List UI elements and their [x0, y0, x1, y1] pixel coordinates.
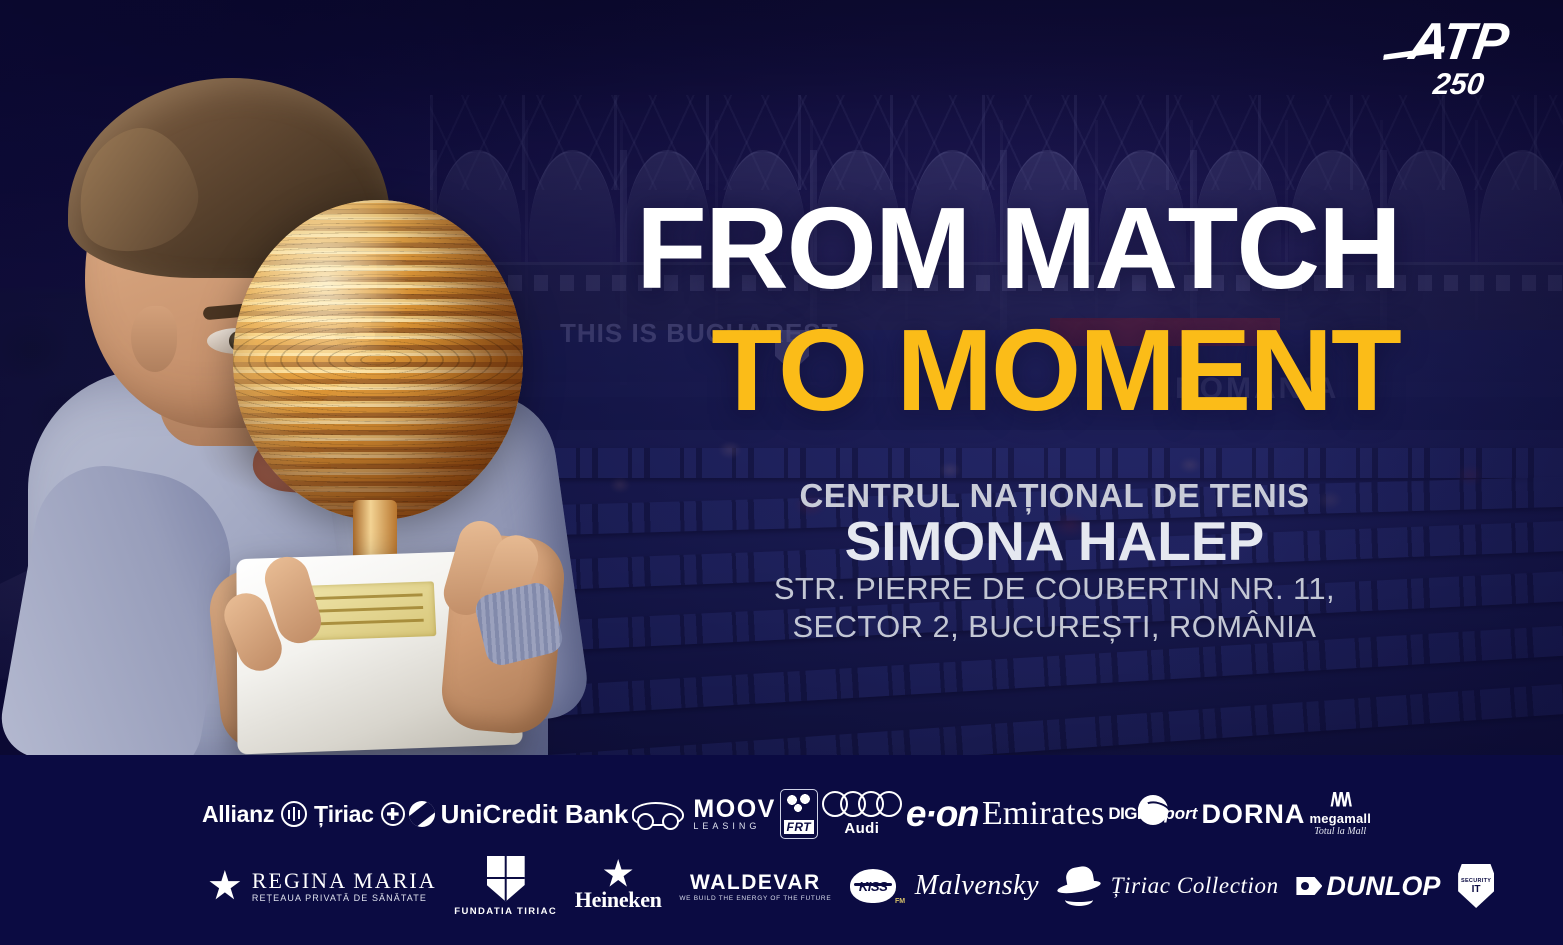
headline-line-1: FROM MATCH: [636, 196, 1400, 300]
sponsor-dunlop[interactable]: DUNLOP: [1288, 854, 1450, 918]
venue-address-line-2: SECTOR 2, BUCUREȘTI, ROMÂNIA: [774, 609, 1335, 645]
sponsor-audi[interactable]: Audi: [820, 782, 904, 846]
dorna-label: DORNA: [1201, 799, 1305, 830]
waldevar-label: WALDEVAR: [690, 870, 821, 895]
megamall-label: megamall: [1309, 812, 1371, 826]
headline-line-2: TO MOMENT: [636, 318, 1400, 422]
megamall-mark-icon: /\/\/\: [1330, 791, 1350, 812]
kiss-lips-icon: KISS FM: [849, 866, 897, 906]
unicredit-label: UniCredit Bank: [441, 799, 629, 830]
digi-sublabel: sport: [1155, 804, 1198, 824]
venue-name: SIMONA HALEP: [774, 513, 1335, 569]
heineken-label: Heineken: [575, 887, 662, 913]
trophy-golden-sphere: [233, 200, 523, 520]
frt-badge-icon: FRT: [780, 789, 818, 839]
heineken-star-icon: [603, 859, 633, 889]
sponsor-digi-sport[interactable]: DIGI sport: [1106, 782, 1199, 846]
moov-label: MOOV: [693, 796, 775, 822]
atp-wordmark: ATP: [1406, 16, 1510, 68]
sponsor-eon[interactable]: e·on: [904, 782, 980, 846]
atp-logo: ATP 250: [1410, 16, 1507, 100]
moov-sublabel: LEASING: [693, 822, 775, 831]
sponsor-tiriac-collection[interactable]: Țiriac Collection: [1048, 854, 1288, 918]
emirates-label: Emirates: [982, 795, 1104, 833]
sponsor-heineken[interactable]: Heineken: [566, 854, 671, 918]
sponsor-row-1: Allianz Țiriac UniCredit Bank MOOV: [0, 782, 1563, 846]
sponsor-mega-mall[interactable]: /\/\/\ megamall Totul la Mall: [1307, 782, 1373, 846]
car-icon: [632, 802, 684, 826]
digi-label: DIGI: [1108, 804, 1141, 824]
dunlop-label: DUNLOP: [1326, 871, 1440, 902]
tiriac-cross-icon: [381, 802, 405, 826]
regina-maria-label: REGINA MARIA: [252, 869, 437, 894]
sponsor-regina-maria[interactable]: REGINA MARIA REȚEAUA PRIVATĂ DE SĂNĂTATE: [200, 854, 445, 918]
atp-tier-label: 250: [1408, 70, 1509, 100]
shield-crest-icon: [487, 856, 525, 902]
audi-label: Audi: [844, 820, 879, 837]
trophy: [215, 200, 525, 760]
sponsor-waldevar[interactable]: WALDEVAR WE BUILD THE ENERGY OF THE FUTU…: [670, 854, 840, 918]
security-sublabel: IT: [1472, 885, 1481, 895]
kiss-label: KISS: [859, 879, 887, 894]
sponsor-security[interactable]: SECURITY IT: [1449, 854, 1503, 918]
venue-address-line-1: STR. PIERRE DE COUBERTIN NR. 11,: [774, 571, 1335, 607]
sponsor-moov-leasing[interactable]: MOOV LEASING: [630, 782, 777, 846]
player-photo: [10, 40, 650, 758]
allianz-bars-icon: [281, 801, 307, 827]
regina-maria-star-icon: [209, 870, 241, 902]
eon-label: e·on: [906, 793, 978, 835]
dunlop-flying-d-icon: [1296, 877, 1322, 895]
sponsor-kiss-fm[interactable]: KISS FM: [840, 854, 906, 918]
kiss-sublabel: FM: [895, 898, 905, 905]
security-label: SECURITY: [1461, 878, 1491, 884]
venue-block: CENTRUL NAȚIONAL DE TENIS SIMONA HALEP S…: [774, 478, 1335, 645]
frt-emblem-icon: [786, 794, 812, 818]
malvensky-label: Malvensky: [915, 870, 1039, 902]
sponsor-dorna[interactable]: DORNA: [1199, 782, 1307, 846]
regina-maria-sublabel: REȚEAUA PRIVATĂ DE SĂNĂTATE: [252, 893, 437, 903]
sponsor-allianz-tiriac[interactable]: Allianz Țiriac: [200, 782, 407, 846]
sponsor-emirates[interactable]: Emirates: [980, 782, 1106, 846]
sponsor-frt[interactable]: FRT: [778, 782, 820, 846]
fundatia-tiriac-label: FUNDATIA TIRIAC: [454, 906, 557, 917]
sponsor-fundatia-tiriac[interactable]: FUNDATIA TIRIAC: [445, 854, 566, 918]
frt-label: FRT: [784, 820, 815, 834]
audi-rings-icon: [822, 791, 902, 817]
headline-block: FROM MATCH TO MOMENT: [636, 196, 1400, 423]
sponsor-band: Allianz Țiriac UniCredit Bank MOOV: [0, 755, 1563, 945]
waldevar-sublabel: WE BUILD THE ENERGY OF THE FUTURE: [679, 895, 831, 903]
security-shield-icon: SECURITY IT: [1458, 864, 1494, 908]
sponsor-unicredit-bank[interactable]: UniCredit Bank: [407, 782, 631, 846]
tiriac-collection-label: Țiriac Collection: [1111, 873, 1279, 899]
sponsor-malvensky[interactable]: Malvensky: [906, 854, 1048, 918]
tiriac-label: Țiriac: [314, 801, 374, 828]
allianz-label: Allianz: [202, 801, 274, 828]
megamall-sublabel: Totul la Mall: [1314, 826, 1366, 837]
unicredit-mark-icon: [409, 801, 435, 827]
player-ear: [131, 306, 177, 372]
sponsor-row-2: REGINA MARIA REȚEAUA PRIVATĂ DE SĂNĂTATE…: [0, 854, 1563, 918]
hat-mustache-icon: [1057, 867, 1101, 905]
tournament-key-visual: THIS IS BUCHAREST ROMANIA: [0, 0, 1563, 945]
